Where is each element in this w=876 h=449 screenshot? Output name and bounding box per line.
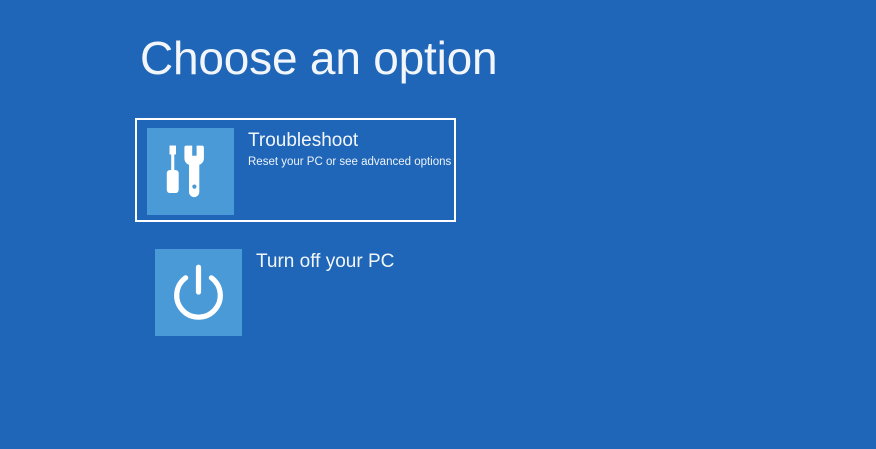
option-troubleshoot[interactable]: Troubleshoot Reset your PC or see advanc… bbox=[135, 118, 456, 222]
page-title: Choose an option bbox=[140, 32, 497, 85]
recovery-screen: Choose an option bbox=[0, 0, 876, 449]
option-list: Troubleshoot Reset your PC or see advanc… bbox=[135, 118, 835, 343]
option-subtitle: Reset your PC or see advanced options bbox=[248, 155, 454, 170]
tools-icon bbox=[147, 128, 234, 215]
option-text: Turn off your PC bbox=[242, 249, 462, 274]
option-title: Troubleshoot bbox=[248, 129, 454, 153]
option-text: Troubleshoot Reset your PC or see advanc… bbox=[234, 128, 454, 170]
power-icon bbox=[155, 249, 242, 336]
option-title: Turn off your PC bbox=[256, 250, 462, 274]
option-turn-off-your-pc[interactable]: Turn off your PC bbox=[143, 239, 464, 343]
